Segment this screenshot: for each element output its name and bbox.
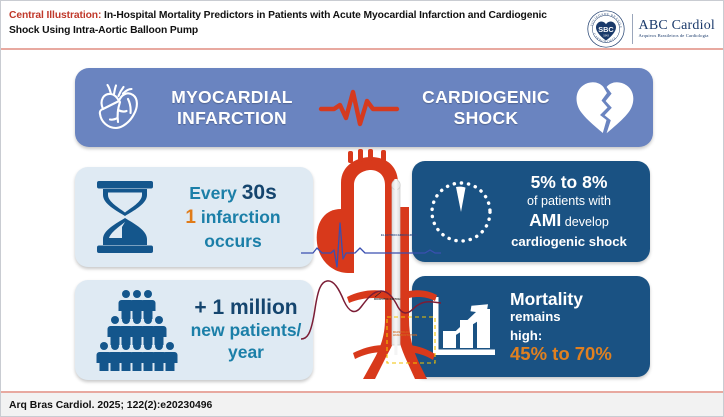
incidence-line-3: AMI develop (498, 211, 640, 232)
card-mortality: Mortality remains high: 45% to 70% (412, 276, 650, 377)
myocardial-infarction-label: MYOCARDIAL INFARCTION (147, 87, 317, 129)
dicrotic-notch-label: DICROTIC NOTCH (374, 297, 400, 301)
mi-line-2: INFARCTION (147, 108, 317, 129)
mi-line-1: MYOCARDIAL (147, 87, 317, 108)
mortality-line-2: remains (510, 308, 642, 327)
diastolic-augmentation-label: DIASTOLIC AUGMENTATION (393, 331, 419, 338)
mortality-text: Mortality remains high: 45% to 70% (502, 290, 642, 364)
people-pyramid-icon (85, 287, 185, 373)
mortality-line-4: 45% to 70% (510, 345, 642, 364)
electrocardiogram-label: ELECTROCARDIOGRAM (381, 233, 417, 237)
journal-subtitle: Arquivos Brasileiros de Cardiologia (639, 34, 715, 39)
infarction-line-1: Every 30s (161, 182, 305, 206)
diagnosis-banner: MYOCARDIAL INFARCTION CARDIOGENIC SHOCK (75, 68, 653, 147)
journal-logo: SOCIEDADE BRASILEIRA DE CARDIOLOGIA SBC … (586, 9, 715, 49)
cs-line-2: SHOCK (401, 108, 571, 129)
infarction-line-3: occurs (161, 230, 305, 252)
broken-heart-icon (573, 79, 637, 137)
ecg-waveform-icon (317, 84, 401, 132)
incidence-line-2: of patients with (498, 192, 640, 211)
citation: Arq Bras Cardiol. 2025; 122(2):e20230496 (9, 400, 212, 411)
shock-incidence-text: 5% to 8% of patients with AMI develop ca… (498, 173, 640, 251)
new-patients-text: + 1 million new patients/ year (185, 297, 307, 363)
incidence-line-1: 5% to 8% (498, 173, 640, 192)
sbc-seal-icon: SOCIEDADE BRASILEIRA DE CARDIOLOGIA SBC … (586, 9, 626, 49)
svg-text:1943: 1943 (603, 34, 609, 37)
journal-name-block: ABC Cardiol Arquivos Brasileiros de Card… (639, 19, 715, 40)
central-illustration-page: Central Illustration: In-Hospital Mortal… (0, 0, 724, 417)
cs-line-1: CARDIOGENIC (401, 87, 571, 108)
svg-text:SBC: SBC (598, 25, 614, 34)
infarction-line-2: 1 infarction (161, 206, 305, 230)
anatomical-heart-icon (87, 78, 147, 138)
patients-line-1: + 1 million (185, 297, 307, 319)
central-illustration-label: Central Illustration: (9, 10, 101, 21)
incidence-line-4: cardiogenic shock (498, 232, 640, 251)
card-infarction-rate: Every 30s 1 infarction occurs (75, 167, 313, 267)
hourglass-icon (89, 178, 161, 256)
mortality-line-1: Mortality (510, 290, 642, 309)
header-divider (1, 48, 724, 50)
cardiogenic-shock-label: CARDIOGENIC SHOCK (401, 87, 571, 129)
page-title: Central Illustration: In-Hospital Mortal… (9, 8, 569, 38)
journal-name: ABC Cardiol (639, 19, 715, 34)
patients-line-3: year (185, 341, 307, 363)
aorta-iabp-illustration (301, 149, 441, 384)
patients-line-2: new patients/ (185, 319, 307, 341)
infarction-rate-text: Every 30s 1 infarction occurs (161, 182, 305, 252)
card-shock-incidence: 5% to 8% of patients with AMI develop ca… (412, 161, 650, 262)
card-new-patients: + 1 million new patients/ year (75, 280, 313, 380)
page-footer: Arq Bras Cardiol. 2025; 122(2):e20230496 (1, 393, 724, 417)
page-header: Central Illustration: In-Hospital Mortal… (1, 1, 724, 49)
logo-divider (632, 14, 633, 44)
